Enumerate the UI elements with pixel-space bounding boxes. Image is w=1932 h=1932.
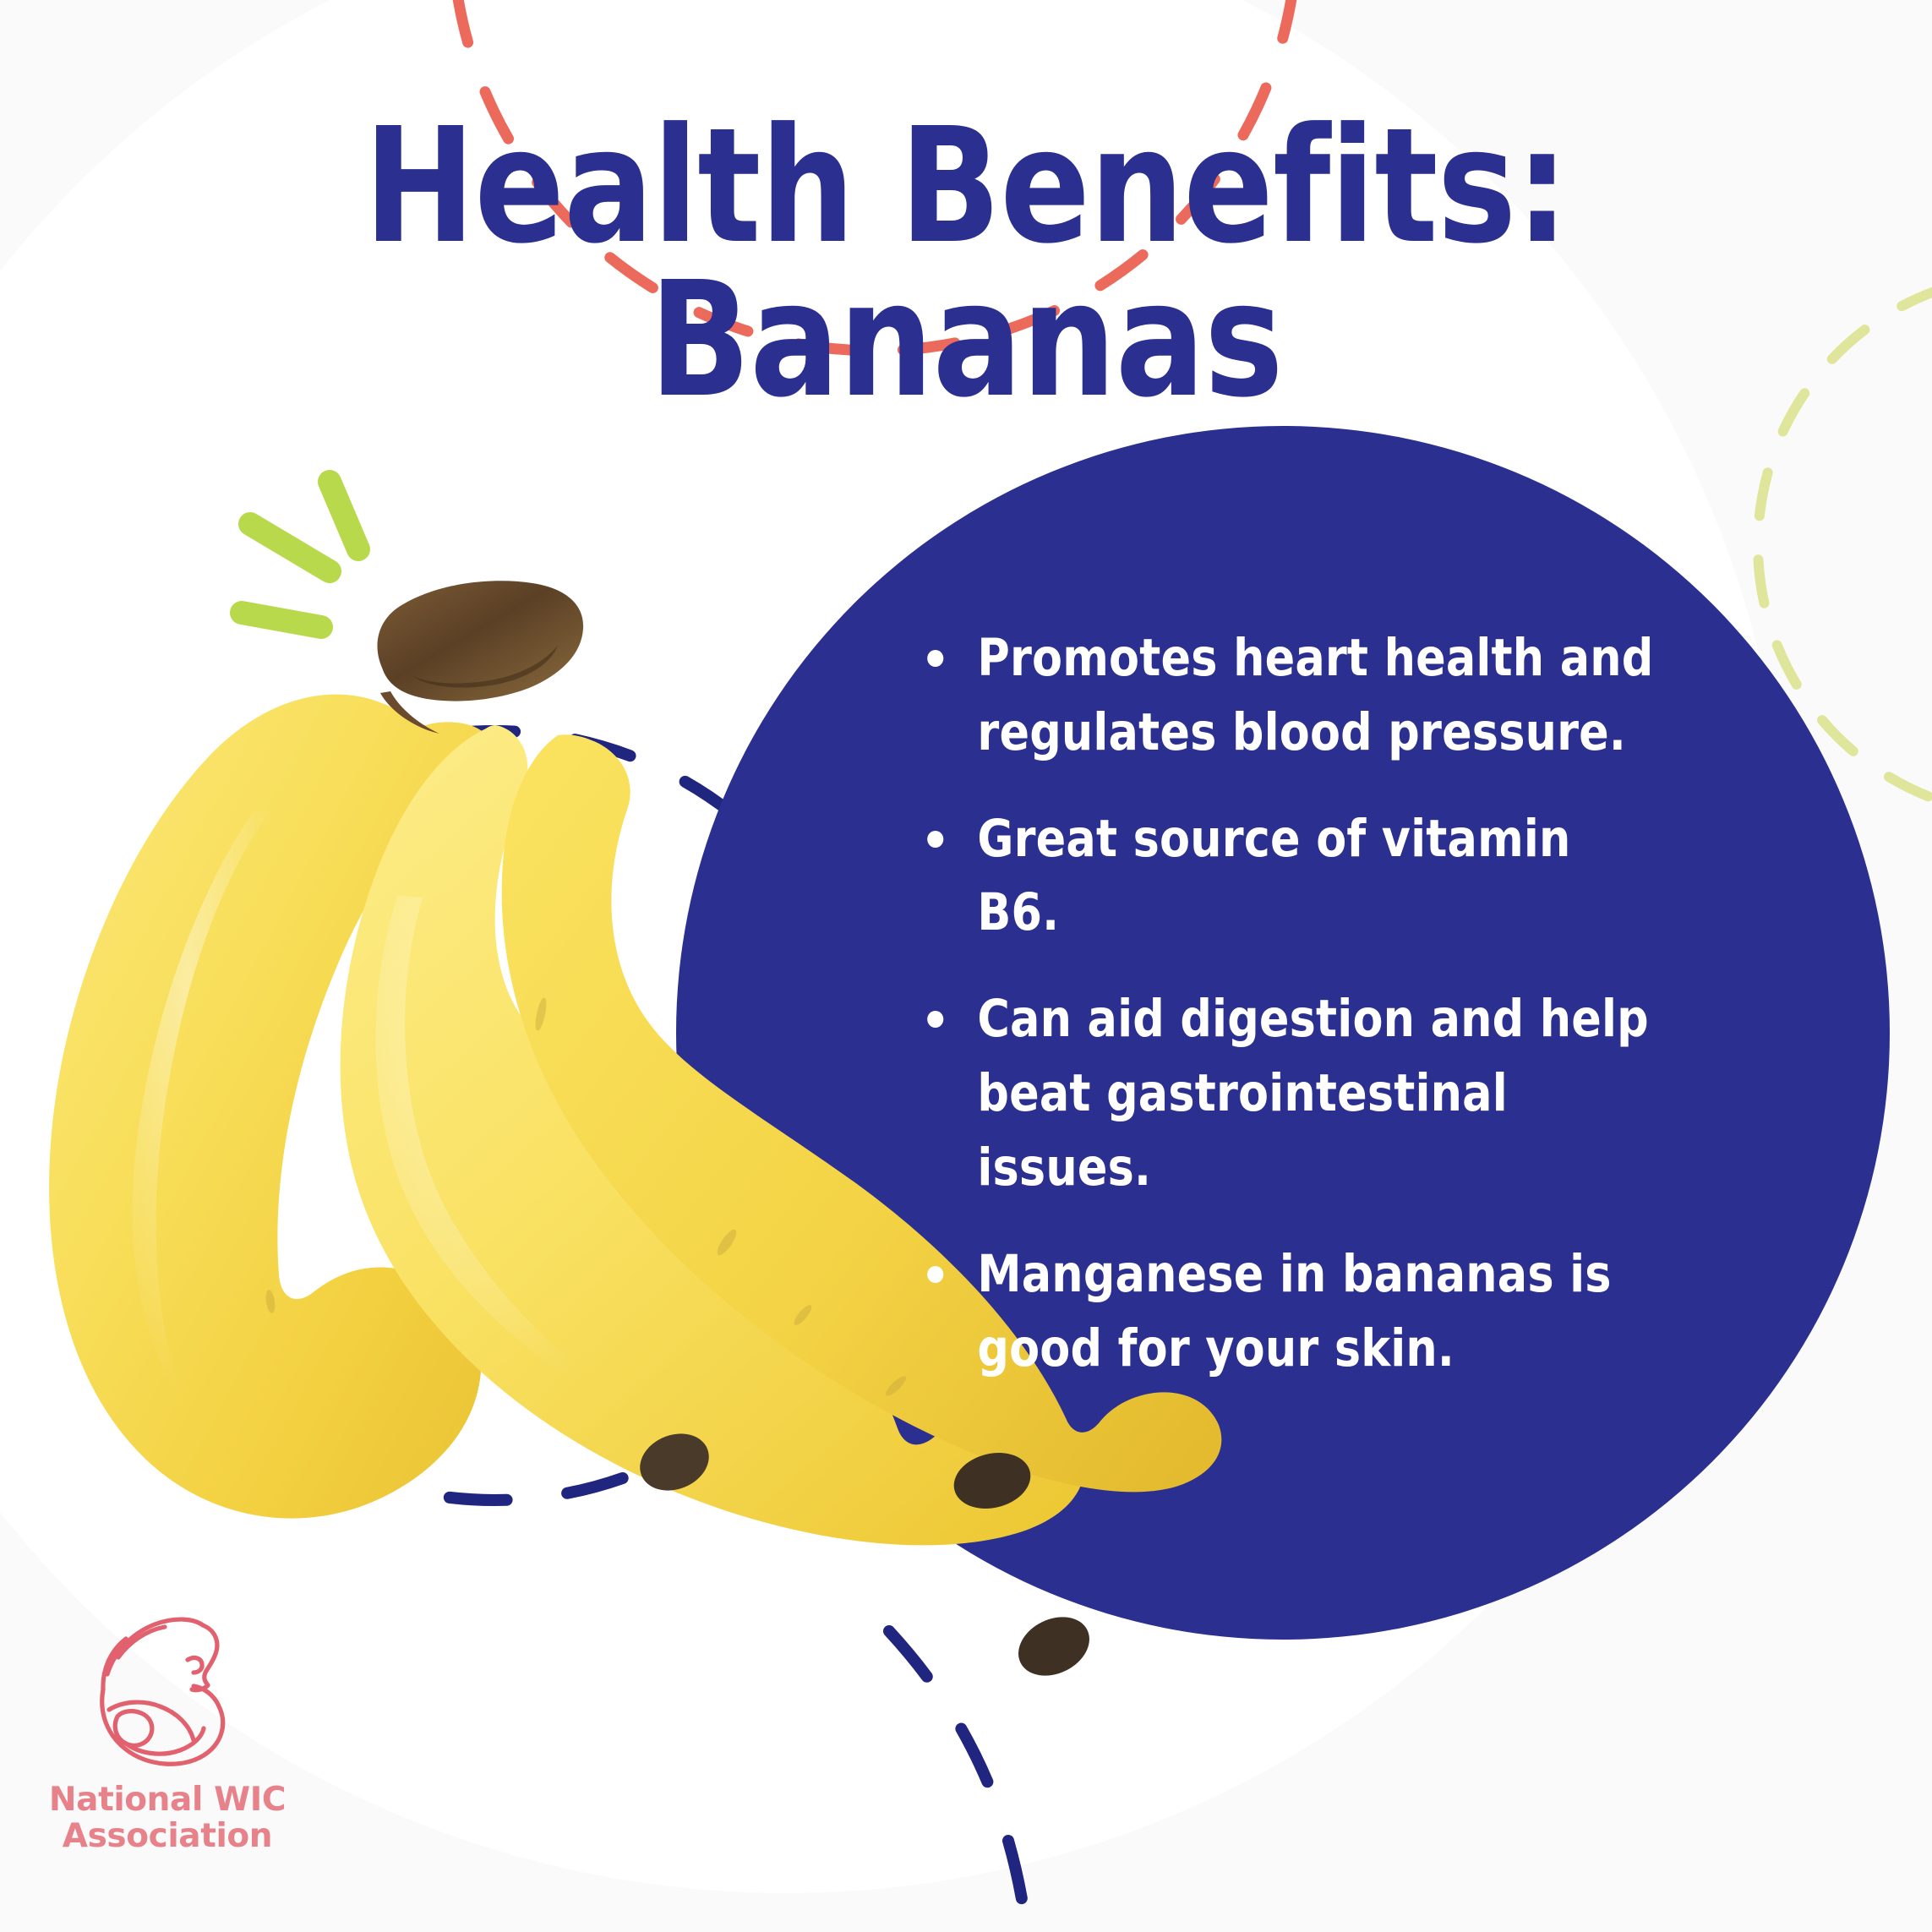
- logo-line-2: Association: [41, 1819, 294, 1855]
- benefits-list: Promotes heart health and regulates bloo…: [913, 621, 1690, 1385]
- benefits-panel: Promotes heart health and regulates bloo…: [913, 621, 1690, 1417]
- bullet-dot-icon: [927, 1266, 943, 1283]
- list-item: Great source of vitamin B6.: [913, 802, 1656, 951]
- bullet-dot-icon: [927, 650, 943, 667]
- mother-and-child-icon: [70, 1602, 265, 1779]
- bullet-dot-icon: [927, 831, 943, 848]
- benefit-text: Great source of vitamin B6.: [977, 809, 1570, 943]
- benefit-text: Promotes heart health and regulates bloo…: [977, 628, 1653, 762]
- bullet-dot-icon: [927, 1011, 943, 1028]
- benefit-text: Manganese in bananas is good for your sk…: [977, 1244, 1611, 1378]
- list-item: Promotes heart health and regulates bloo…: [913, 621, 1656, 770]
- infographic-canvas: Health Benefits: Bananas: [0, 0, 1932, 1932]
- logo-line-1: National WIC: [41, 1782, 294, 1819]
- banana-tip-right: [1008, 1606, 1099, 1687]
- logo-wordmark: National WIC Association: [41, 1782, 294, 1855]
- list-item: Can aid digestion and help beat gastroin…: [913, 982, 1656, 1204]
- benefit-text: Can aid digestion and help beat gastroin…: [977, 989, 1648, 1198]
- list-item: Manganese in bananas is good for your sk…: [913, 1237, 1656, 1386]
- wic-logo: National WIC Association: [41, 1602, 294, 1855]
